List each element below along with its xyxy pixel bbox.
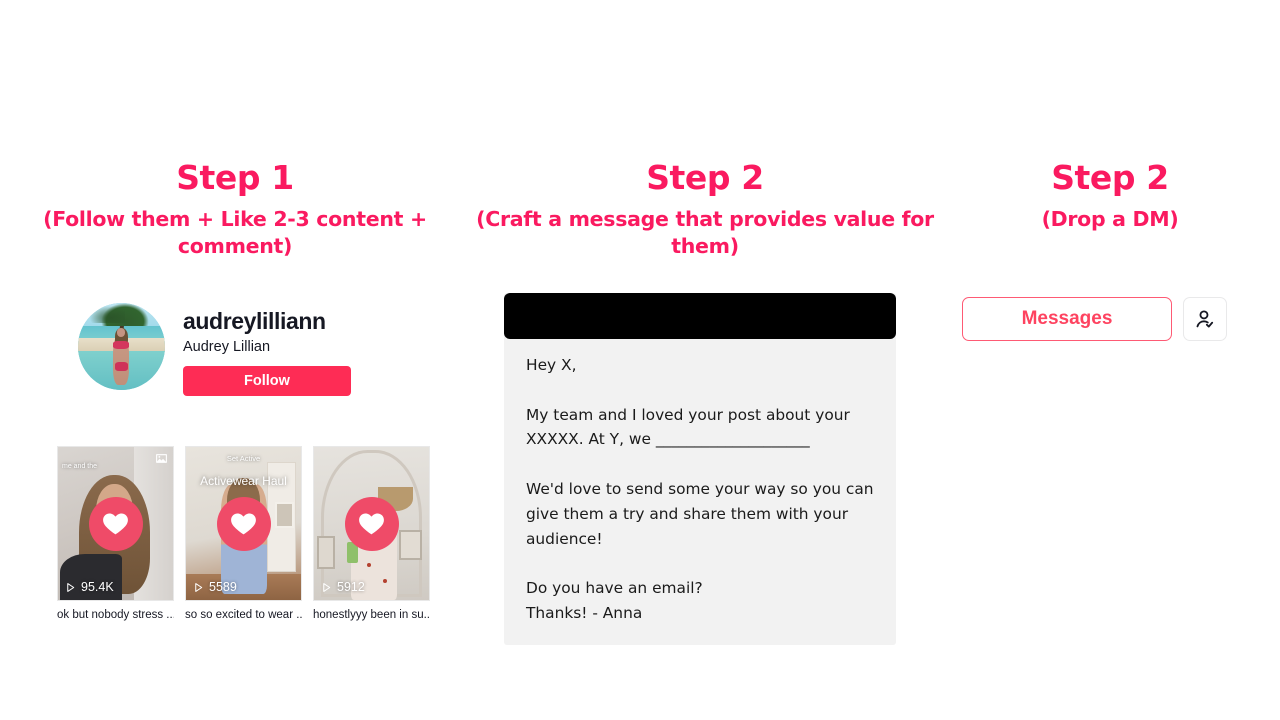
profile-display-name: Audrey Lillian bbox=[183, 338, 438, 357]
post-view-count-row: 5589 bbox=[193, 580, 237, 594]
post-caption: ok but nobody stress ... bbox=[57, 607, 174, 623]
post-overlay-top-text: me and the bbox=[62, 463, 97, 470]
avatar-palm-leaves-secondary bbox=[90, 306, 125, 323]
like-heart-badge[interactable] bbox=[89, 497, 143, 551]
post-caption: so so excited to wear ... bbox=[185, 607, 302, 623]
profile-header: audreylilliann Audrey Lillian Follow bbox=[78, 303, 438, 395]
post-view-count-row: 95.4K bbox=[65, 580, 114, 594]
post-cell: Set Active Activewear Haul 5589 so bbox=[185, 446, 302, 623]
avatar[interactable] bbox=[78, 303, 165, 390]
messages-button[interactable]: Messages bbox=[962, 297, 1172, 341]
profile-username: audreylilliann bbox=[183, 307, 438, 335]
dm-message-body: Hey X, My team and I loved your post abo… bbox=[526, 353, 876, 626]
step-2-dm-column: Step 2 (Drop a DM) bbox=[940, 0, 1280, 720]
step-2-dm-title: Step 2 bbox=[940, 158, 1280, 198]
play-icon bbox=[65, 582, 76, 593]
post-thumbnail[interactable]: 5912 bbox=[313, 446, 430, 601]
step-1-subtitle: (Follow them + Like 2-3 content + commen… bbox=[0, 206, 470, 260]
thumb-wall-frame bbox=[275, 502, 295, 528]
thumb-wall-picture-secondary bbox=[317, 536, 334, 570]
step-2-message-title: Step 2 bbox=[470, 158, 940, 198]
thumb-dress-pattern bbox=[383, 579, 387, 583]
person-check-button[interactable] bbox=[1183, 297, 1227, 341]
redacted-header-bar bbox=[504, 293, 896, 339]
play-icon bbox=[193, 582, 204, 593]
profile-meta: audreylilliann Audrey Lillian Follow bbox=[183, 307, 438, 396]
post-overlay-top-text: Set Active bbox=[186, 454, 301, 463]
avatar-swimwear-bottom bbox=[115, 362, 128, 371]
post-view-count: 5589 bbox=[209, 580, 237, 594]
step-2-dm-subtitle: (Drop a DM) bbox=[940, 206, 1280, 233]
post-view-count: 5912 bbox=[337, 580, 365, 594]
step-1-column: Step 1 (Follow them + Like 2-3 content +… bbox=[0, 0, 470, 720]
post-caption: honestlyyy been in su... bbox=[313, 607, 430, 623]
poster-canvas: Step 1 (Follow them + Like 2-3 content +… bbox=[0, 0, 1280, 720]
like-heart-badge[interactable] bbox=[345, 497, 399, 551]
dm-message-card: Hey X, My team and I loved your post abo… bbox=[504, 293, 896, 645]
person-check-icon bbox=[1194, 308, 1217, 331]
post-grid: me and the bbox=[57, 446, 432, 623]
play-icon bbox=[321, 582, 332, 593]
post-cell: me and the bbox=[57, 446, 174, 623]
thumb-wall-picture bbox=[399, 530, 422, 561]
carousel-photo-icon bbox=[155, 452, 168, 465]
avatar-swimwear-top bbox=[113, 341, 130, 349]
post-thumbnail[interactable]: Set Active Activewear Haul 5589 bbox=[185, 446, 302, 601]
step-1-title: Step 1 bbox=[0, 158, 470, 198]
dm-action-row: Messages bbox=[962, 297, 1227, 341]
follow-button[interactable]: Follow bbox=[183, 366, 351, 396]
post-thumbnail[interactable]: me and the bbox=[57, 446, 174, 601]
post-view-count-row: 5912 bbox=[321, 580, 365, 594]
post-cell: 5912 honestlyyy been in su... bbox=[313, 446, 430, 623]
post-overlay-mid-text: Activewear Haul bbox=[186, 474, 301, 488]
like-heart-badge[interactable] bbox=[217, 497, 271, 551]
post-view-count: 95.4K bbox=[81, 580, 114, 594]
step-2-message-subtitle: (Craft a message that provides value for… bbox=[470, 206, 940, 260]
